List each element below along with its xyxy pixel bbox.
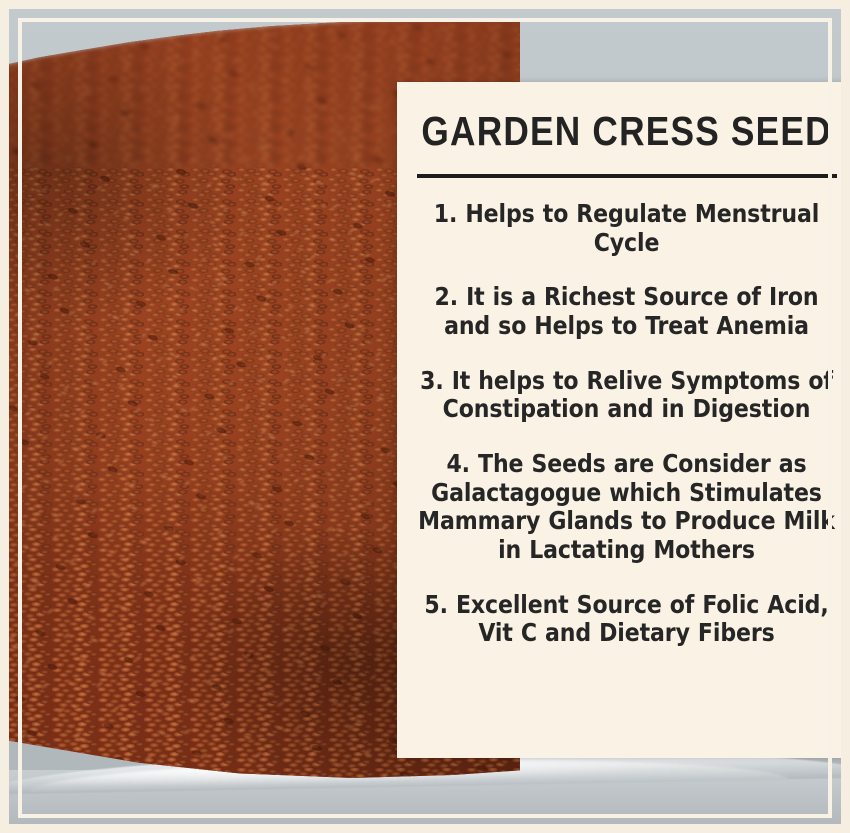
title-divider <box>417 174 837 178</box>
list-item: 5. Excellent Source of Folic Acid, Vit C… <box>417 591 836 648</box>
list-item: 2. It is a Richest Source of Iron and so… <box>417 283 836 340</box>
list-item: 3. It helps to Relive Symptoms of Consti… <box>417 367 836 424</box>
content-panel: GARDEN CRESS SEED 1. Helps to Regulate M… <box>397 82 850 758</box>
benefits-list: 1. Helps to Regulate Menstrual Cycle 2. … <box>417 200 836 648</box>
list-item: 4. The Seeds are Consider as Galactagogu… <box>417 450 836 565</box>
infographic-poster: GARDEN CRESS SEED 1. Helps to Regulate M… <box>0 0 850 833</box>
page-title: GARDEN CRESS SEED <box>421 110 831 153</box>
list-item: 1. Helps to Regulate Menstrual Cycle <box>417 200 836 257</box>
